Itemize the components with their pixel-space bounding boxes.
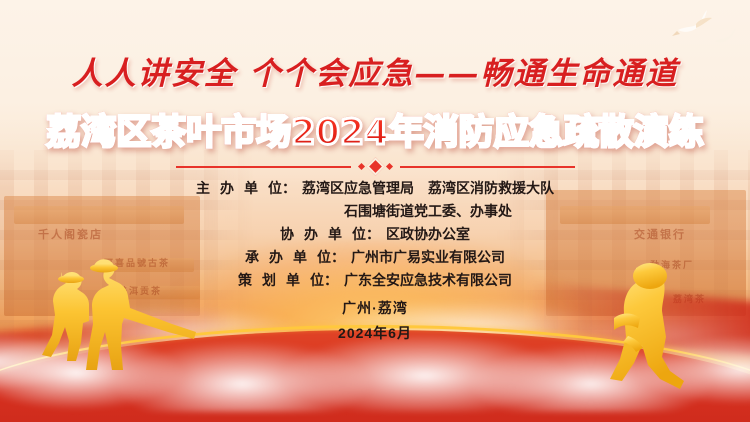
divider-ornament bbox=[359, 160, 392, 173]
organizer-value: 荔湾区应急管理局 荔湾区消防救援大队 bbox=[302, 178, 554, 198]
divider-dot-left bbox=[357, 163, 364, 170]
divider-dot-right bbox=[385, 163, 392, 170]
organizer-label: 协办单位 bbox=[280, 224, 366, 244]
poster-footer: 广州·荔湾 2024年6月 bbox=[0, 298, 750, 343]
organizer-value: 石围塘街道党工委、办事处 bbox=[344, 201, 512, 221]
divider-diamond bbox=[366, 157, 384, 175]
organizer-colon: ： bbox=[282, 178, 296, 198]
organizer-value: 广东全安应急技术有限公司 bbox=[344, 270, 512, 290]
ornament-divider bbox=[0, 160, 750, 173]
organizer-list: 主办单位 ： 荔湾区应急管理局 荔湾区消防救援大队 协办单位 ： 石围塘街道党工… bbox=[0, 178, 750, 290]
poster-content: 人人讲安全 个个会应急——畅通生命通道 荔湾区茶叶市场2024年消防应急疏散演练… bbox=[0, 0, 750, 422]
divider-rule-right bbox=[400, 166, 575, 168]
divider-rule-left bbox=[176, 166, 351, 168]
organizer-row: 策划单位 ： 广东全安应急技术有限公司 bbox=[238, 270, 512, 290]
poster-subtitle: 人人讲安全 个个会应急——畅通生命通道 bbox=[0, 48, 750, 93]
organizer-label: 策划单位 bbox=[238, 270, 324, 290]
event-date: 2024年6月 bbox=[0, 323, 750, 343]
organizer-value: 区政协办公室 bbox=[386, 224, 470, 244]
organizer-colon: ： bbox=[324, 270, 338, 290]
poster-title: 荔湾区茶叶市场2024年消防应急疏散演练 bbox=[0, 104, 750, 155]
organizer-colon: ： bbox=[331, 247, 345, 267]
organizer-label: 承办单位 bbox=[245, 247, 331, 267]
organizer-label: 主办单位 bbox=[196, 178, 282, 198]
organizer-row: 主办单位 ： 荔湾区应急管理局 荔湾区消防救援大队 bbox=[196, 178, 554, 198]
organizer-value: 广州市广易实业有限公司 bbox=[351, 247, 505, 267]
organizer-colon: ： bbox=[366, 224, 380, 244]
event-location: 广州·荔湾 bbox=[0, 298, 750, 318]
organizer-row: 承办单位 ： 广州市广易实业有限公司 bbox=[245, 247, 505, 267]
organizer-row: 协办单位 ： 区政协办公室 bbox=[280, 224, 470, 244]
organizer-row-continuation: 协办单位 ： 石围塘街道党工委、办事处 bbox=[238, 201, 512, 221]
poster-canvas: 千人阁瓷店 可喜品號古茶 普洱贡茶 交通银行 勐海茶厂 荔湾茶 bbox=[0, 0, 750, 422]
